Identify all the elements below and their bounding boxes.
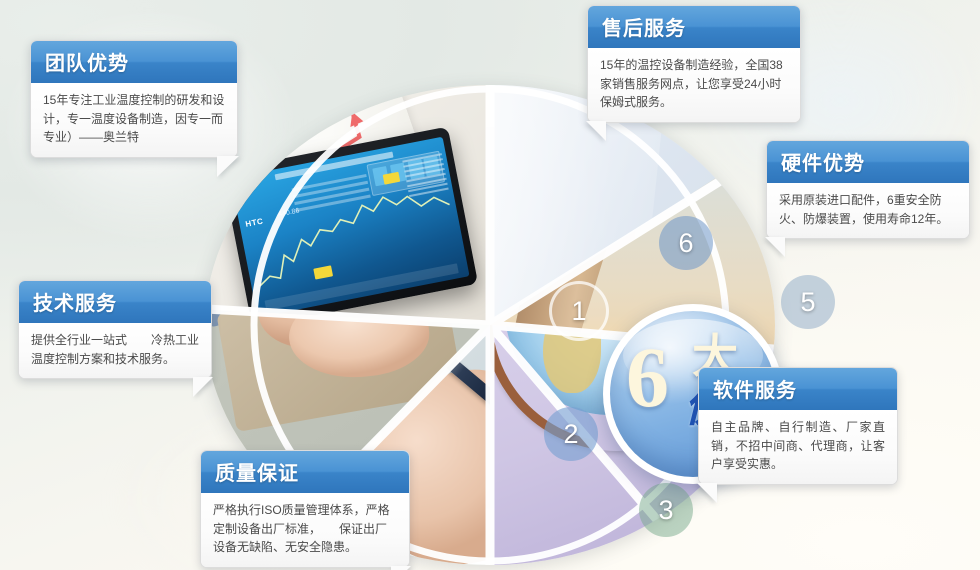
marker-6[interactable]: 6 [659,216,713,270]
card-body-team: 15年专注工业温度控制的研发和设计，专一温度设备制造，因专一而专业）——奥兰特 [31,83,237,157]
callout-card-hardware[interactable]: 硬件优势 采用原装进口配件，6重安全防火、防爆装置，使用寿命12年。 [766,140,970,239]
marker-3[interactable]: 3 [639,483,693,537]
callout-card-team[interactable]: 团队优势 15年专注工业温度控制的研发和设计，专一温度设备制造，因专一而专业）—… [30,40,238,158]
card-tail-software [697,483,717,503]
card-body-software: 自主品牌、自行制造、厂家直销，不招中间商、代理商，让客户享受实惠。 [699,410,897,484]
card-title-after-sales: 售后服务 [588,6,800,48]
card-tail-team [217,156,239,177]
card-title-quality: 质量保证 [201,451,409,493]
marker-5[interactable]: 5 [781,275,835,329]
marker-2[interactable]: 2 [544,407,598,461]
screen-tick-marks [402,153,451,212]
card-body-after-sales: 15年的温控设备制造经验，全国38家销售服务网点，让您享受24小时保姆式服务。 [588,48,800,122]
callout-card-software[interactable]: 软件服务 自主品牌、自行制造、厂家直销，不招中间商、代理商，让客户享受实惠。 [698,367,898,485]
card-tail-quality [391,566,411,570]
card-title-tech: 技术服务 [19,281,211,323]
card-title-team: 团队优势 [31,41,237,83]
card-tail-tech [193,377,213,397]
callout-card-quality[interactable]: 质量保证 严格执行ISO质量管理体系，严格定制设备出厂标准， 保证出厂设备无缺陷… [200,450,410,568]
card-body-tech: 提供全行业一站式 冷热工业温度控制方案和技术服务。 [19,323,211,378]
card-title-software: 软件服务 [699,368,897,410]
infographic-canvas: HTC 440.86 [0,0,980,570]
tablet-screen: HTC 440.86 [230,137,469,318]
card-title-hardware: 硬件优势 [767,141,969,183]
marker-1[interactable]: 1 [549,281,609,341]
card-tail-hardware [765,237,785,257]
card-body-quality: 严格执行ISO质量管理体系，严格定制设备出厂标准， 保证出厂设备无缺陷、无安全隐… [201,493,409,567]
callout-card-after-sales[interactable]: 售后服务 15年的温控设备制造经验，全国38家销售服务网点，让您享受24小时保姆… [587,5,801,123]
callout-card-tech[interactable]: 技术服务 提供全行业一站式 冷热工业温度控制方案和技术服务。 [18,280,212,379]
card-body-hardware: 采用原装进口配件，6重安全防火、防爆装置，使用寿命12年。 [767,183,969,238]
card-tail-after-sales [586,121,606,141]
badge-number: 6 [626,341,669,415]
